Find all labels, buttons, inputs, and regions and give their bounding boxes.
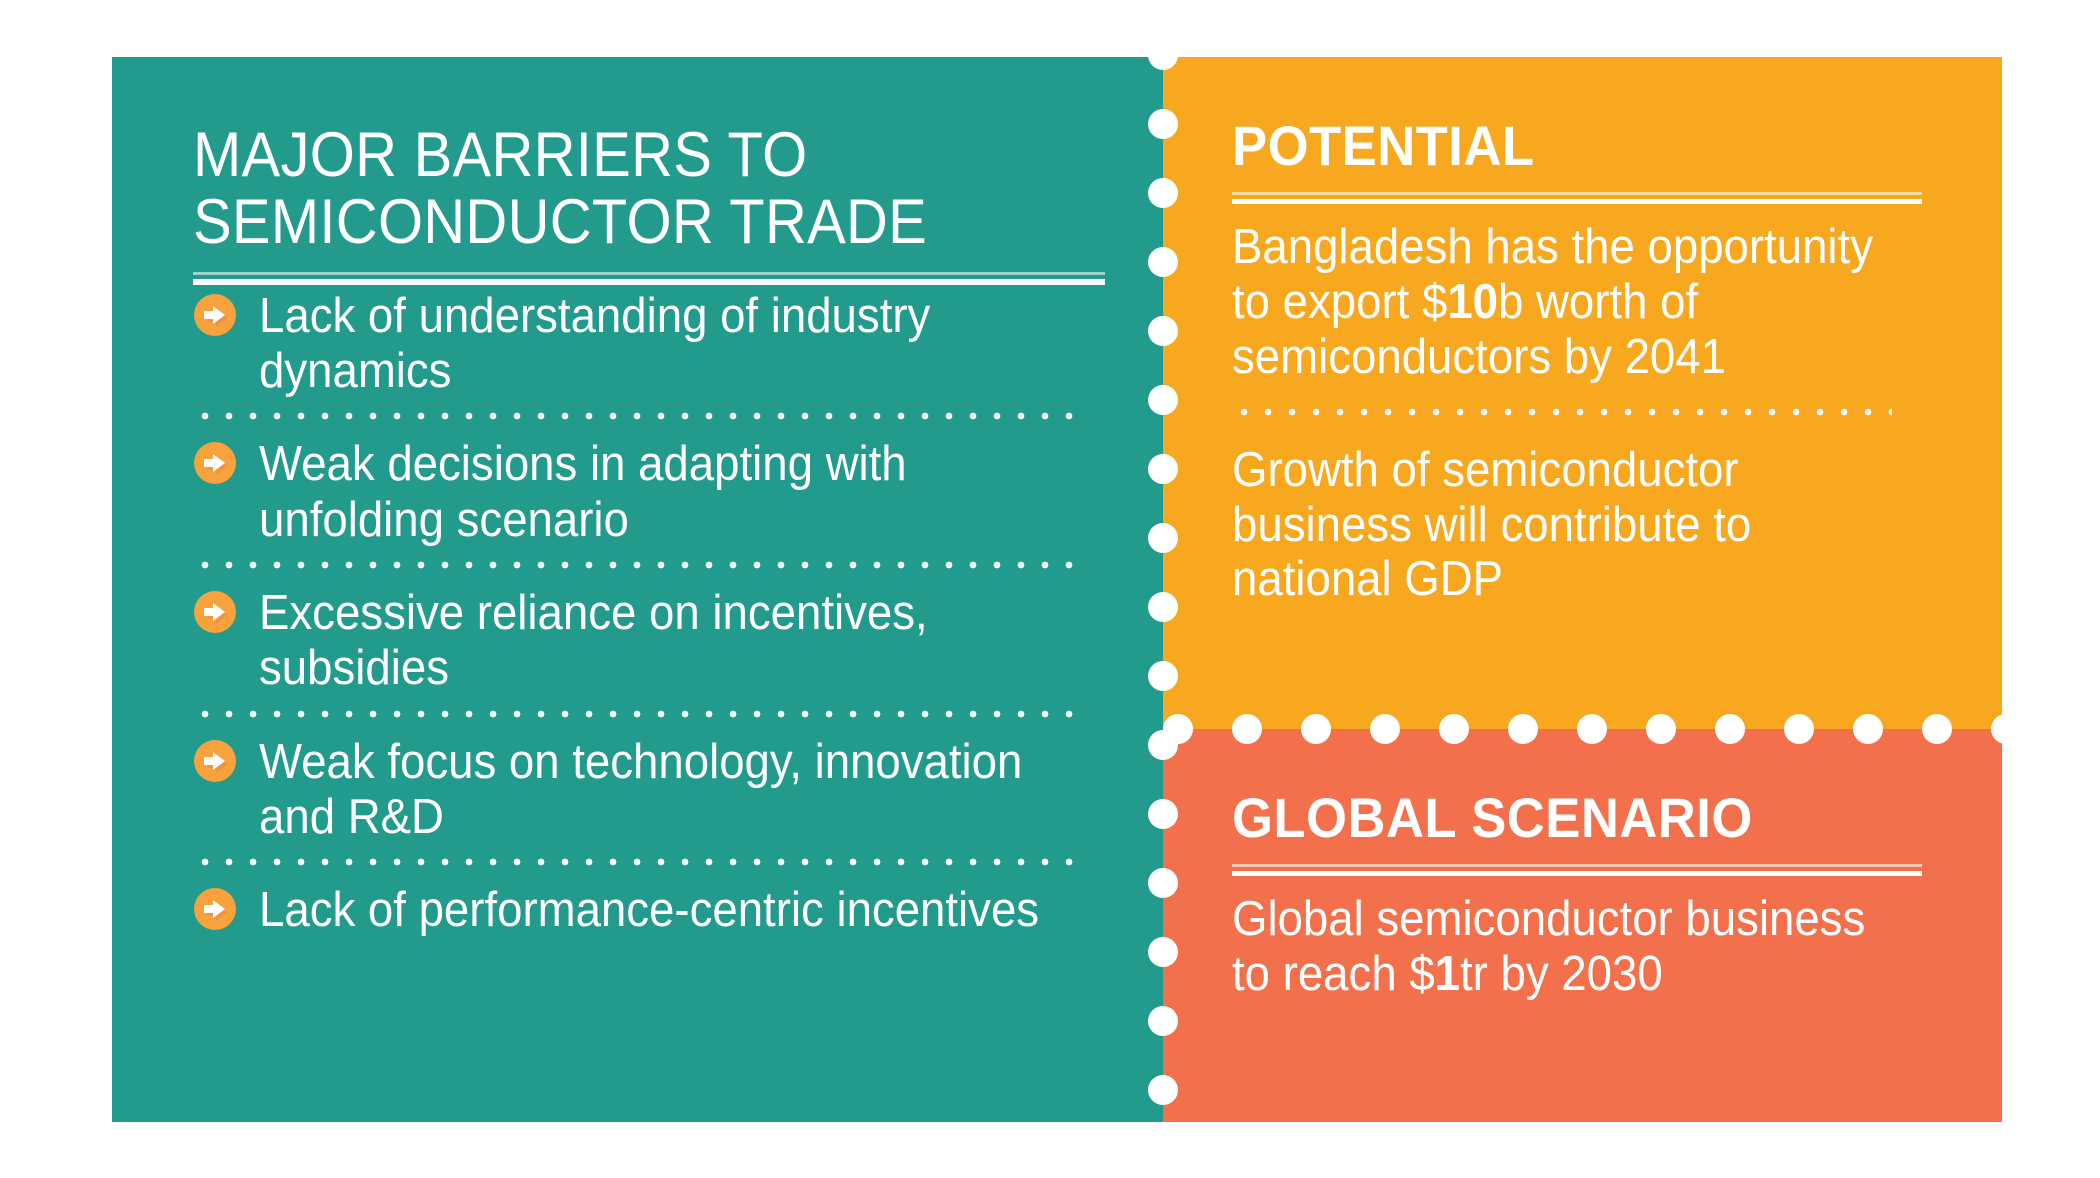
potential-content: POTENTIAL Bangladesh has the opportunity… (1232, 118, 1932, 607)
barriers-content: MAJOR BARRIERS TO SEMICONDUCTOR TRADE La… (193, 122, 1113, 939)
barrier-list-item: Lack of understanding of industry dynami… (193, 285, 1113, 400)
arrow-right-circle-icon (193, 590, 237, 634)
barrier-item-label: Weak focus on technology, innovation and… (259, 731, 1053, 846)
potential-paragraphs: Bangladesh has the opportunity to export… (1232, 220, 1932, 607)
dotted-separator (193, 548, 1073, 582)
divider-dot (1301, 714, 1331, 744)
barrier-item-label: Lack of performance-centric incentives (259, 879, 1053, 938)
global-scenario-emphasis-value: 1 (1435, 947, 1460, 1001)
global-heading-divider (1232, 864, 1922, 876)
potential-heading: POTENTIAL (1232, 118, 1890, 174)
divider-dot (1148, 661, 1178, 691)
divider-dot (1715, 714, 1745, 744)
divider-dot (1148, 385, 1178, 415)
divider-dot (2060, 714, 2090, 744)
barrier-item-label: Lack of understanding of industry dynami… (259, 285, 1053, 400)
barrier-list-item: Weak focus on technology, innovation and… (193, 731, 1113, 846)
divider-dot (1148, 316, 1178, 346)
dotted-separator (193, 697, 1073, 731)
arrow-right-circle-icon (193, 441, 237, 485)
divider-dot (1148, 592, 1178, 622)
global-scenario-paragraph: Global semiconductor business to reach $… (1232, 892, 1883, 1002)
divider-dot (1148, 40, 1178, 70)
arrow-right-circle-icon (193, 887, 237, 931)
divider-dot (1991, 714, 2021, 744)
divider-dot (1148, 247, 1178, 277)
barrier-list-item: Excessive reliance on incentives, subsid… (193, 582, 1113, 697)
divider-dot (1922, 714, 1952, 744)
dotted-separator (1232, 397, 1892, 427)
dotted-separator (193, 845, 1073, 879)
divider-dot (1148, 1006, 1178, 1036)
title-divider (193, 272, 1105, 285)
divider-dot (1148, 1075, 1178, 1105)
infographic-canvas: MAJOR BARRIERS TO SEMICONDUCTOR TRADE La… (0, 0, 2100, 1178)
divider-dot (1508, 714, 1538, 744)
divider-dot (1370, 714, 1400, 744)
barrier-item-label: Excessive reliance on incentives, subsid… (259, 582, 1053, 697)
divider-dot (1148, 937, 1178, 967)
arrow-right-circle-icon (193, 293, 237, 337)
page-title: MAJOR BARRIERS TO SEMICONDUCTOR TRADE (193, 122, 1039, 256)
divider-dot (1148, 868, 1178, 898)
divider-dot (1148, 109, 1178, 139)
barrier-list-item: Lack of performance-centric incentives (193, 879, 1113, 938)
potential-heading-divider (1232, 192, 1922, 204)
divider-dot (1163, 714, 1193, 744)
barrier-list-item: Weak decisions in adapting with unfoldin… (193, 433, 1113, 548)
divider-dot (1646, 714, 1676, 744)
potential-emphasis-value: 10 (1447, 275, 1498, 329)
potential-divider-thick (1232, 199, 1922, 204)
global-divider-thick (1232, 871, 1922, 876)
barrier-item-label: Weak decisions in adapting with unfoldin… (259, 433, 1053, 548)
dotted-separator (193, 399, 1073, 433)
global-scenario-content: GLOBAL SCENARIO Global semiconductor bus… (1232, 790, 1932, 1002)
divider-dot (1148, 454, 1178, 484)
global-paragraphs: Global semiconductor business to reach $… (1232, 892, 1932, 1002)
potential-paragraph: Growth of semiconductor business will co… (1232, 443, 1883, 608)
divider-dot (1148, 523, 1178, 553)
arrow-right-circle-icon (193, 739, 237, 783)
divider-dot (1439, 714, 1469, 744)
divider-dot (1148, 178, 1178, 208)
divider-dot (1232, 714, 1262, 744)
divider-dot (1853, 714, 1883, 744)
barriers-list: Lack of understanding of industry dynami… (193, 285, 1113, 939)
divider-dot (1148, 799, 1178, 829)
potential-paragraph: Bangladesh has the opportunity to export… (1232, 220, 1883, 385)
divider-dot (1784, 714, 1814, 744)
divider-dot (1577, 714, 1607, 744)
global-scenario-heading: GLOBAL SCENARIO (1232, 790, 1890, 846)
